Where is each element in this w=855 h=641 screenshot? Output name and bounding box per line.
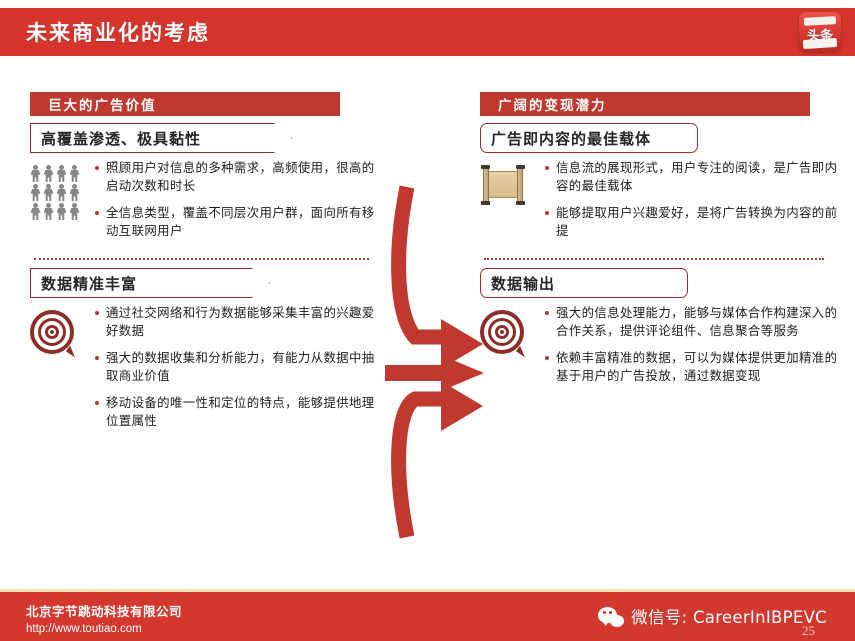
right-column: 广阔的变现潜力 广告即内容的最佳载体	[480, 92, 840, 394]
right-section-1-bullets: 信息流的展现形式，用户专注的阅读，是广告即内容的最佳载体 能够提取用户兴趣爱好，…	[542, 159, 840, 249]
left-section-2-heading: 数据精准丰富	[30, 268, 270, 298]
right-section-2-heading-label: 数据输出	[491, 273, 555, 294]
bullet-item: 强大的数据收集和分析能力，有能力从数据中抽取商业价值	[94, 349, 375, 385]
bullet-item: 照顾用户对信息的多种需求，高频使用，很高的启动次数和时长	[94, 159, 375, 195]
slide-footer: 北京字节跳动科技有限公司 http://www.toutiao.com 微信号:…	[0, 589, 855, 641]
bullet-item: 强大的信息处理能力，能够与媒体合作构建深入的合作关系，提供评论组件、信息聚合等服…	[544, 304, 840, 340]
footer-url[interactable]: http://www.toutiao.com	[26, 623, 182, 635]
right-section-1-heading: 广告即内容的最佳载体	[480, 123, 698, 153]
bullet-item: 能够提取用户兴趣爱好，是将广告转换为内容的前提	[544, 204, 840, 240]
logo-sheet-bottom	[803, 38, 838, 49]
slide: 未来商业化的考虑 头条 巨大的广告价值 高覆盖渗透、极具黏性	[0, 0, 855, 641]
bullet-item: 移动设备的唯一性和定位的特点，能够提供地理位置属性	[94, 394, 375, 430]
page-title: 未来商业化的考虑	[26, 17, 210, 47]
slide-body: 巨大的广告价值 高覆盖渗透、极具黏性	[0, 62, 855, 572]
people-grid-icon	[30, 159, 92, 220]
right-section-2-bullets: 强大的信息处理能力，能够与媒体合作构建深入的合作关系，提供评论组件、信息聚合等服…	[542, 304, 840, 394]
left-section-1-block: 照顾用户对信息的多种需求，高频使用，很高的启动次数和时长 全信息类型，覆盖不同层…	[30, 159, 375, 249]
left-section-2-block: 通过社交网络和行为数据能够采集丰富的兴趣爱好数据 强大的数据收集和分析能力，有能…	[30, 304, 375, 439]
right-section-1-heading-label: 广告即内容的最佳载体	[491, 128, 651, 149]
right-column-divider	[484, 258, 824, 260]
bullet-item: 信息流的展现形式，用户专注的阅读，是广告即内容的最佳载体	[544, 159, 840, 195]
three-right-arrows-icon	[385, 177, 490, 547]
arrow-cluster-svg	[385, 177, 490, 547]
right-column-band: 广阔的变现潜力	[480, 92, 810, 116]
footer-company-block: 北京字节跳动科技有限公司 http://www.toutiao.com	[26, 601, 182, 635]
left-section-2-heading-label: 数据精准丰富	[41, 273, 137, 294]
left-section-1-bullets: 照顾用户对信息的多种需求，高频使用，很高的启动次数和时长 全信息类型，覆盖不同层…	[92, 159, 375, 249]
bullet-item: 全信息类型，覆盖不同层次用户群，面向所有移动互联网用户	[94, 204, 375, 240]
left-section-1-heading-label: 高覆盖渗透、极具黏性	[41, 128, 201, 149]
toutiao-logo-icon: 头条	[799, 12, 841, 52]
left-band-title: 巨大的广告价值	[48, 94, 157, 114]
left-section-1-heading: 高覆盖渗透、极具黏性	[30, 123, 292, 153]
wechat-label: 微信号: CareerInIBPEVC	[631, 604, 827, 628]
wechat-icon	[598, 605, 624, 627]
left-column-band: 巨大的广告价值	[30, 92, 340, 116]
slide-header: 未来商业化的考虑 头条	[0, 8, 855, 56]
target-bullseye-icon	[30, 304, 92, 356]
right-section-1-block: 信息流的展现形式，用户专注的阅读，是广告即内容的最佳载体 能够提取用户兴趣爱好，…	[480, 159, 840, 249]
bullet-item: 通过社交网络和行为数据能够采集丰富的兴趣爱好数据	[94, 304, 375, 340]
target-bullseye-icon	[480, 304, 542, 356]
bullet-item: 依赖丰富精准的数据，可以为媒体提供更加精准的基于用户的广告投放，通过数据变现	[544, 349, 840, 385]
page-number: 25	[802, 623, 815, 639]
left-section-2-bullets: 通过社交网络和行为数据能够采集丰富的兴趣爱好数据 强大的数据收集和分析能力，有能…	[92, 304, 375, 439]
right-band-title: 广阔的变现潜力	[498, 94, 607, 114]
right-section-2-block: 强大的信息处理能力，能够与媒体合作构建深入的合作关系，提供评论组件、信息聚合等服…	[480, 304, 840, 394]
scroll-icon	[480, 159, 542, 205]
left-column: 巨大的广告价值 高覆盖渗透、极具黏性	[30, 92, 375, 439]
footer-wechat-block: 微信号: CareerInIBPEVC	[598, 604, 827, 628]
right-section-2-heading: 数据输出	[480, 268, 688, 298]
left-column-divider	[34, 258, 369, 260]
footer-company-name: 北京字节跳动科技有限公司	[26, 601, 182, 620]
